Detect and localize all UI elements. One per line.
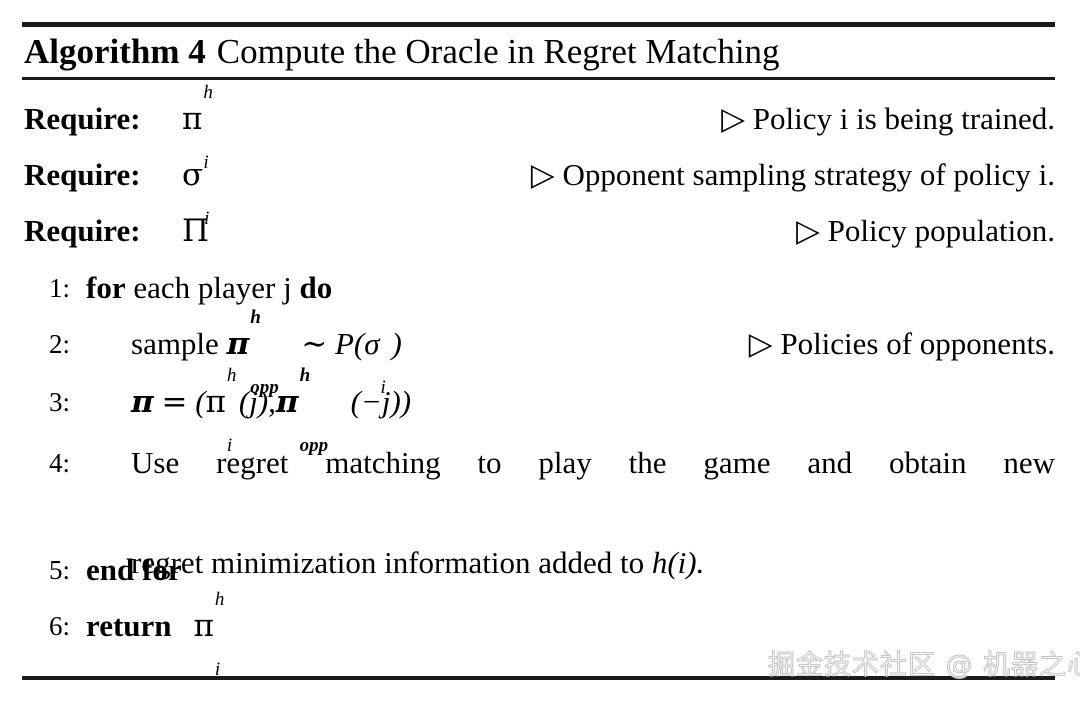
rule-under-title: [22, 77, 1055, 80]
algorithm-title: Algorithm 4 Compute the Oracle in Regret…: [24, 28, 1054, 76]
step-number-4: 4:: [24, 438, 70, 488]
step-text-1: for each player j do: [86, 263, 332, 313]
require-symbol-1: πhi: [182, 94, 202, 144]
step-text-4-line1: Use regret matching to play the game and…: [131, 438, 1055, 538]
require-symbol-3: Π: [182, 206, 209, 256]
require-comment-1: ▷ Policy i is being trained.: [721, 94, 1055, 144]
require-row-2: Require: σi ▷ Opponent sampling strategy…: [0, 150, 1080, 200]
step-row-3: 3: π = (πhi(j),πhopp(−j)): [0, 377, 1080, 427]
step-row-5: 5: end for: [0, 545, 1080, 595]
step-row-6: 6: returnπhi: [0, 601, 1080, 651]
step-text-2: sample πhopp∼ P(σi): [131, 319, 402, 369]
require-row-1: Require: πhi ▷ Policy i is being trained…: [0, 94, 1080, 144]
step-row-2: 2: sample πhopp∼ P(σi) ▷ Policies of opp…: [0, 319, 1080, 369]
step-text-5: end for: [86, 545, 182, 595]
rule-bottom: [22, 676, 1055, 680]
require-label-1: Require:: [24, 94, 141, 144]
step-number-6: 6:: [24, 601, 70, 651]
require-comment-3: ▷ Policy population.: [796, 206, 1055, 256]
require-comment-2: ▷ Opponent sampling strategy of policy i…: [531, 150, 1055, 200]
require-label-3: Require:: [24, 206, 141, 256]
step-text-6: returnπhi: [86, 601, 214, 651]
rule-top: [22, 22, 1055, 27]
step-number-3: 3:: [24, 377, 70, 427]
algorithm-title-number: Algorithm 4: [24, 30, 206, 74]
step-row-4: 4: Use regret matching to play the game …: [0, 438, 1080, 538]
step-comment-2: ▷ Policies of opponents.: [749, 319, 1055, 369]
algorithm-figure: Algorithm 4 Compute the Oracle in Regret…: [0, 0, 1080, 703]
step-row-1: 1: for each player j do: [0, 263, 1080, 313]
step-number-5: 5:: [24, 545, 70, 595]
require-label-2: Require:: [24, 150, 141, 200]
require-symbol-2: σi: [182, 150, 203, 200]
step-number-2: 2:: [24, 319, 70, 369]
step-number-1: 1:: [24, 263, 70, 313]
step-text-3: π = (πhi(j),πhopp(−j)): [131, 377, 411, 427]
algorithm-title-text: Compute the Oracle in Regret Matching: [217, 30, 780, 74]
require-row-3: Require: Π ▷ Policy population.: [0, 206, 1080, 256]
